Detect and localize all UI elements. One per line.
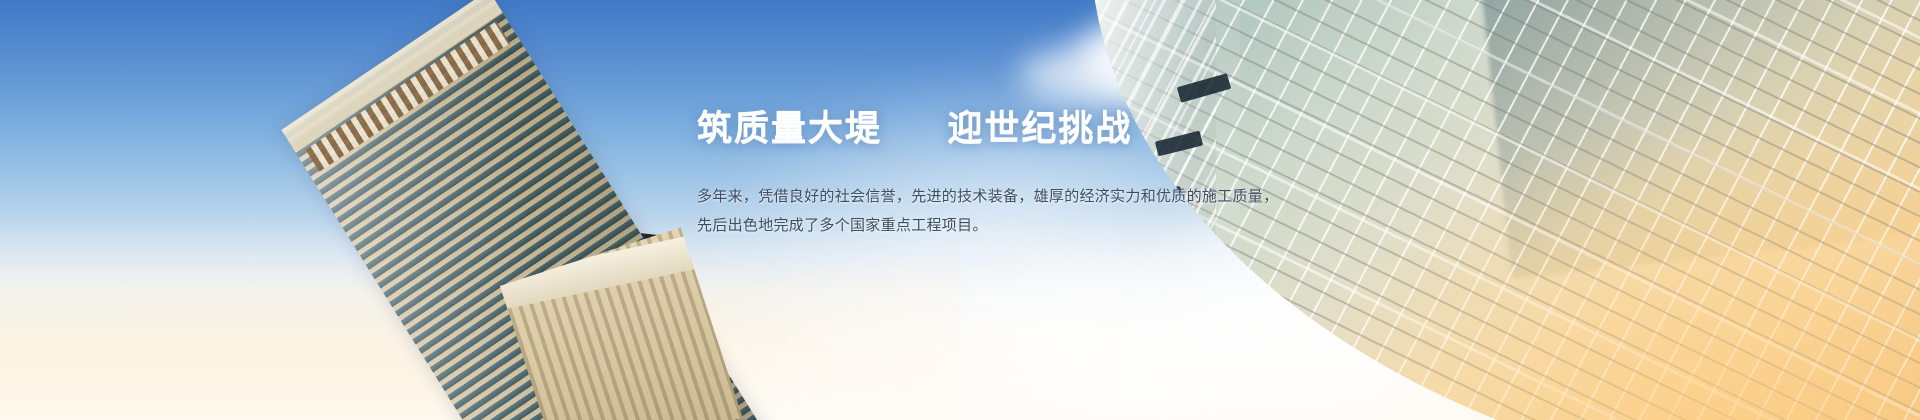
banner-copy: 筑质量大堤 迎世纪挑战 多年来，凭借良好的社会信誉，先进的技术装备，雄厚的经济实… <box>697 108 1397 240</box>
banner-subtitle-line-1: 多年来，凭借良好的社会信誉，先进的技术装备，雄厚的经济实力和优质的施工质量， <box>697 182 1397 211</box>
banner-subtitle-line-2: 先后出色地完成了多个国家重点工程项目。 <box>697 211 1397 240</box>
banner-subtitle: 多年来，凭借良好的社会信誉，先进的技术装备，雄厚的经济实力和优质的施工质量， 先… <box>697 182 1397 241</box>
banner-headline: 筑质量大堤 迎世纪挑战 <box>697 108 1397 152</box>
hero-banner: 筑质量大堤 迎世纪挑战 多年来，凭借良好的社会信誉，先进的技术装备，雄厚的经济实… <box>0 0 1920 420</box>
